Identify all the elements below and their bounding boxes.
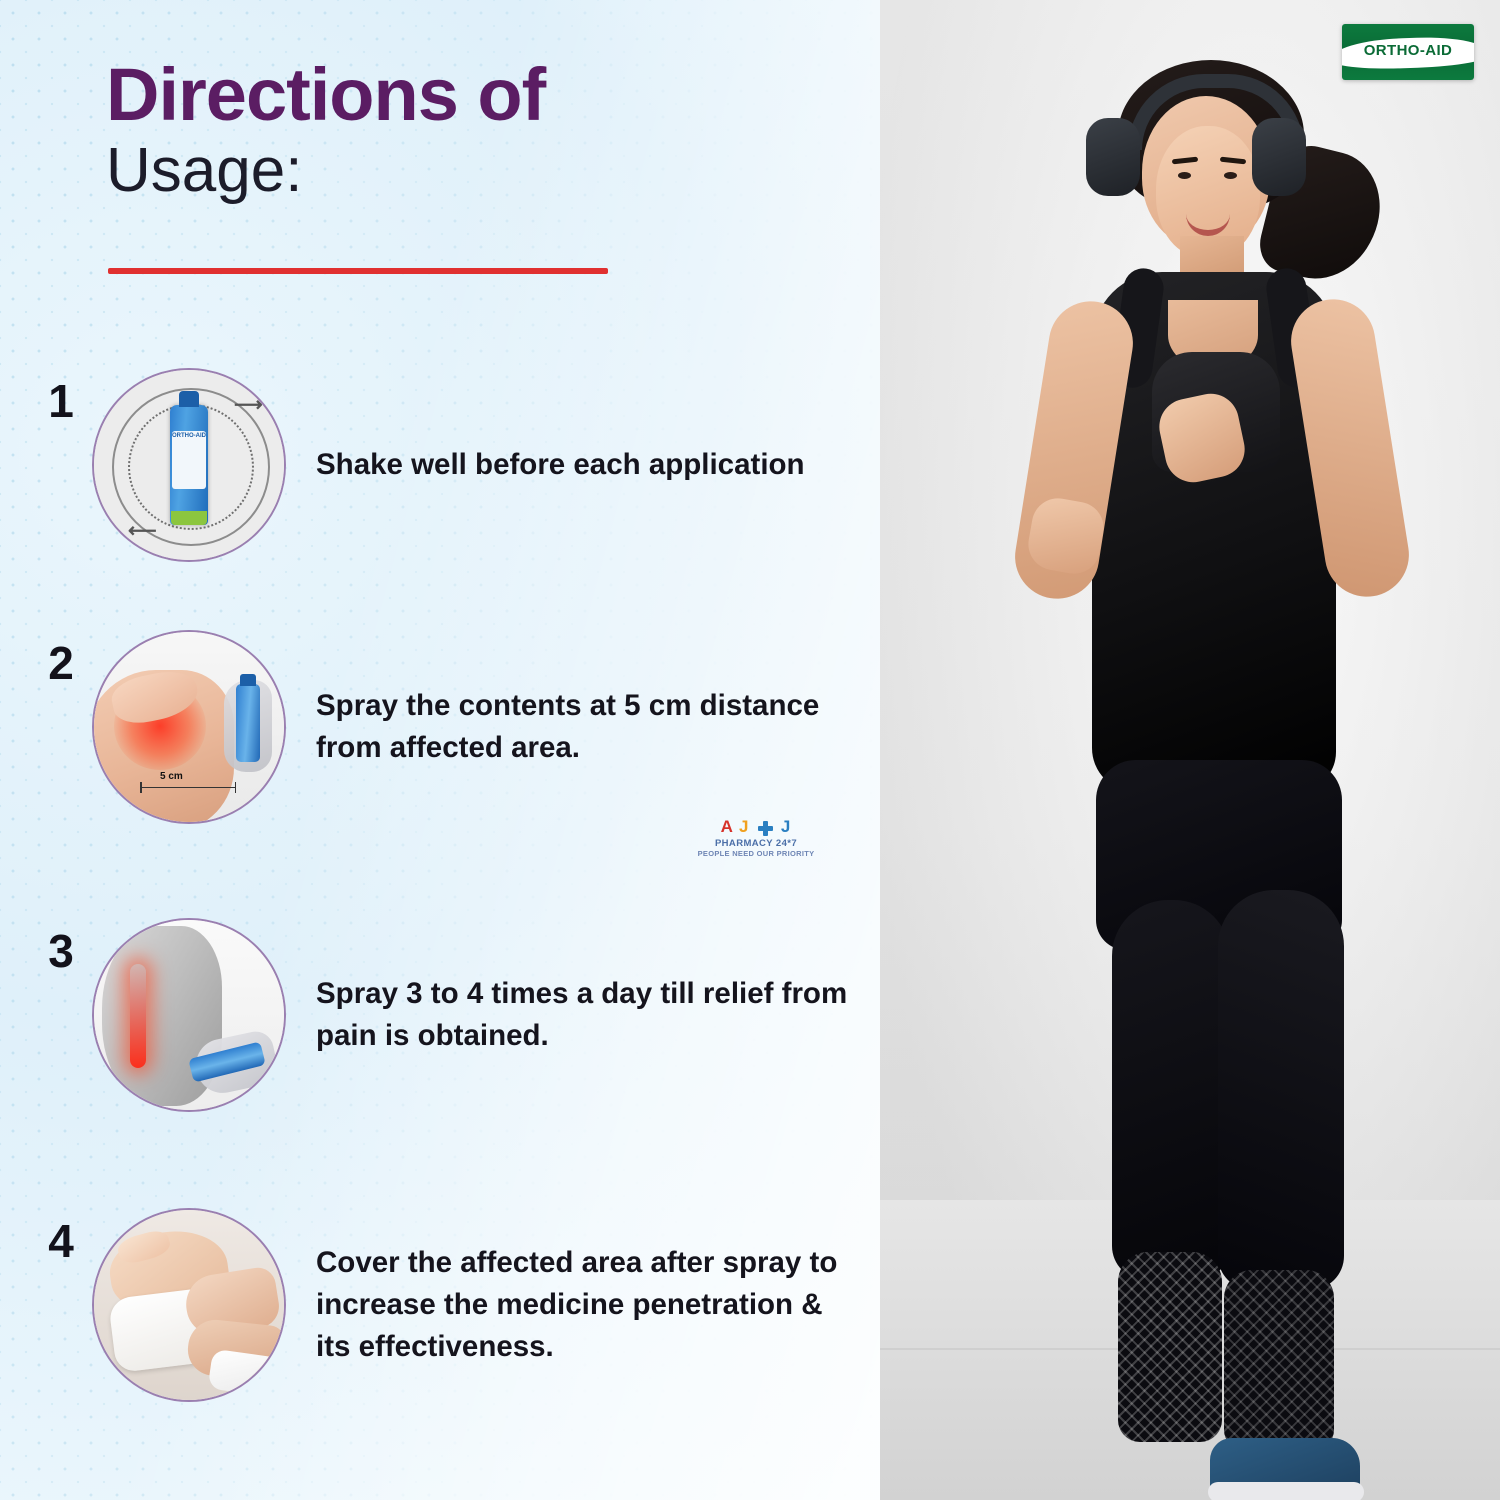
brand-badge: ORTHO-AID — [1342, 24, 1474, 80]
title-underline-rule — [108, 268, 608, 274]
can-label-text: ORTHO-AID — [172, 431, 206, 489]
step-item-4: 4 Cover the affected area after spray to… — [30, 1208, 860, 1402]
watermark-letter-3: J — [781, 817, 791, 836]
directions-panel: Directions of Usage: 1 ORTHO-AID ⟶ ⟵ Sha… — [0, 0, 880, 1500]
title-line-1: Directions of — [106, 58, 806, 132]
watermark-name: PHARMACY 24*7 — [696, 839, 816, 849]
brand-name: ORTHO-AID — [1342, 42, 1474, 59]
pharmacy-watermark: A J J PHARMACY 24*7 PEOPLE NEED OUR PRIO… — [696, 818, 816, 858]
title-line-2: Usage: — [106, 132, 806, 210]
step-item-1: 1 ORTHO-AID ⟶ ⟵ Shake well before each a… — [30, 368, 860, 562]
step-number-1: 1 — [30, 368, 92, 428]
step-text-2: Spray the contents at 5 cm distance from… — [286, 685, 860, 769]
watermark-tagline: PEOPLE NEED OUR PRIORITY — [696, 850, 816, 858]
promo-infographic: Directions of Usage: 1 ORTHO-AID ⟶ ⟵ Sha… — [0, 0, 1500, 1500]
distance-label: 5 cm — [160, 771, 183, 782]
medical-cross-icon — [757, 820, 773, 836]
back-pain-spray-icon — [92, 918, 286, 1112]
woman-jogging-with-headphones — [880, 0, 1500, 1500]
spray-can-shake-icon: ORTHO-AID ⟶ ⟵ — [92, 368, 286, 562]
hero-photo: ORTHO-AID — [880, 0, 1500, 1500]
step-item-3: 3 Spray 3 to 4 times a day till relief f… — [30, 918, 860, 1112]
step-text-3: Spray 3 to 4 times a day till relief fro… — [286, 973, 860, 1057]
step-number-3: 3 — [30, 918, 92, 978]
step-number-4: 4 — [30, 1208, 92, 1268]
step-text-4: Cover the affected area after spray to i… — [286, 1242, 860, 1368]
watermark-letter-2: J — [739, 817, 749, 836]
bandage-foot-icon — [92, 1208, 286, 1402]
page-title: Directions of Usage: — [106, 58, 806, 210]
step-text-1: Shake well before each application — [286, 444, 860, 486]
watermark-letter-1: A — [721, 817, 734, 836]
step-item-2: 2 5 cm Spray the contents at 5 cm distan… — [30, 630, 860, 824]
shoulder-spray-distance-icon: 5 cm — [92, 630, 286, 824]
step-number-2: 2 — [30, 630, 92, 690]
